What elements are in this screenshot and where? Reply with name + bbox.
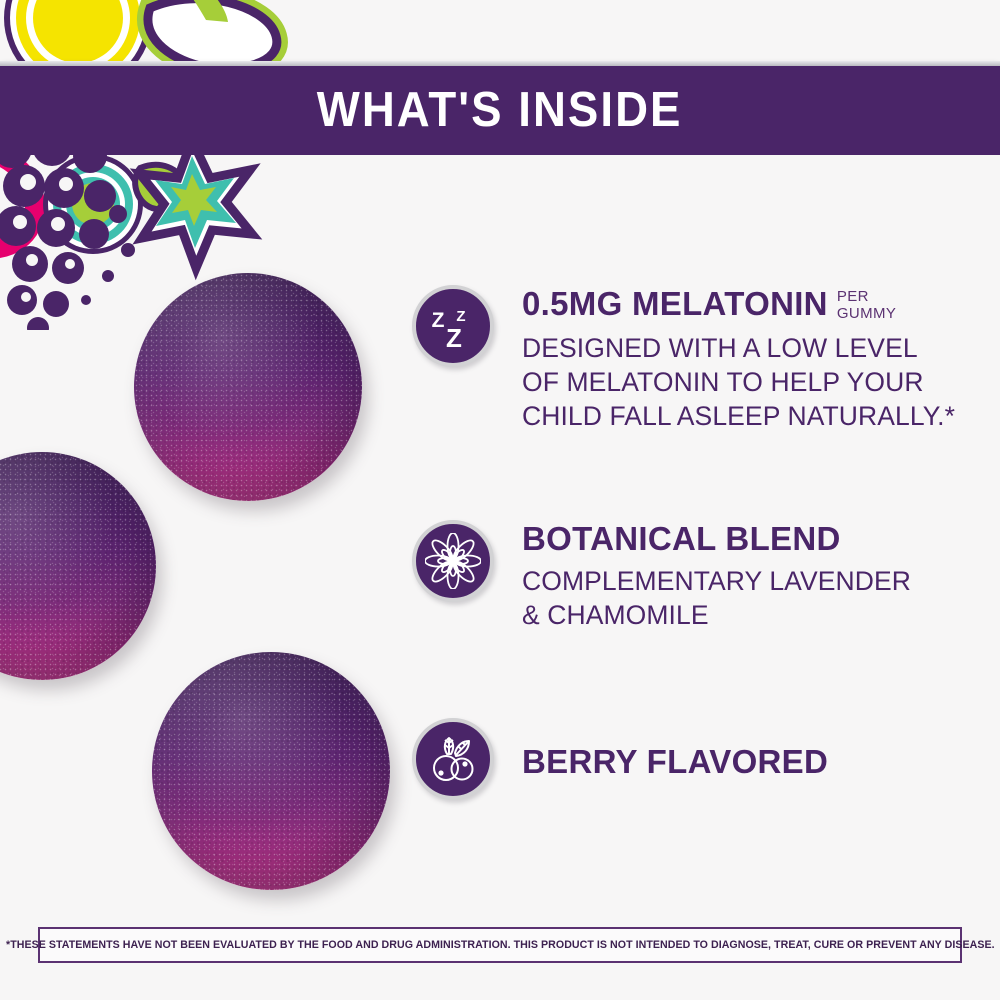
feature-body: BERRY FLAVORED	[522, 718, 982, 810]
feature-title-text: BOTANICAL BLEND	[522, 522, 841, 556]
feature-subtitle: DESIGNED WITH A LOW LEVEL OF MELATONIN T…	[522, 331, 982, 434]
leaf-outline-icon	[148, 0, 277, 69]
gummy-ball	[0, 452, 156, 680]
star-icon	[140, 140, 252, 268]
flower-icon	[412, 520, 494, 602]
header-banner: WHAT'S INSIDE	[0, 66, 1000, 155]
green-teal-circle-icon	[43, 154, 143, 254]
feature-item-berry: BERRY FLAVORED	[412, 718, 982, 810]
feature-body: BOTANICAL BLEND COMPLEMENTARY LAVENDER &…	[522, 520, 982, 633]
page-title: WHAT'S INSIDE	[317, 86, 683, 135]
feature-title: BOTANICAL BLEND	[522, 522, 982, 556]
gummy-sugar-shadow	[134, 273, 362, 501]
feature-item-melatonin: Z Z Z 0.5MG MELATONIN PER GUMMY DESIGNED…	[412, 285, 982, 434]
feature-title: BERRY FLAVORED	[522, 720, 982, 802]
product-info-panel: WHAT'S INSIDE Z Z Z 0.5M	[0, 0, 1000, 1000]
magenta-swirl-icon	[0, 140, 35, 249]
gummy-sugar-shadow	[152, 652, 390, 890]
feature-title-text: BERRY FLAVORED	[522, 745, 828, 779]
svg-text:Z: Z	[446, 323, 462, 353]
green-blob-icon	[135, 165, 184, 210]
feature-title-text: 0.5MG MELATONIN	[522, 287, 828, 321]
gummy-sugar-shadow	[0, 452, 156, 680]
feature-body: 0.5MG MELATONIN PER GUMMY DESIGNED WITH …	[522, 285, 982, 434]
gummy-ball	[134, 273, 362, 501]
zzz-icon: Z Z Z	[412, 285, 494, 367]
feature-item-botanical: BOTANICAL BLEND COMPLEMENTARY LAVENDER &…	[412, 520, 982, 633]
disclaimer-box: *THESE STATEMENTS HAVE NOT BEEN EVALUATE…	[38, 927, 962, 963]
feature-list: Z Z Z 0.5MG MELATONIN PER GUMMY DESIGNED…	[412, 285, 982, 810]
disclaimer-text: *THESE STATEMENTS HAVE NOT BEEN EVALUATE…	[6, 939, 995, 951]
berries-icon	[412, 718, 494, 800]
gummy-ball	[152, 652, 390, 890]
feature-title-suffix: PER GUMMY	[837, 289, 897, 323]
svg-text:Z: Z	[432, 309, 445, 332]
feature-title: 0.5MG MELATONIN PER GUMMY	[522, 287, 982, 323]
feature-subtitle: COMPLEMENTARY LAVENDER & CHAMOMILE	[522, 564, 982, 633]
